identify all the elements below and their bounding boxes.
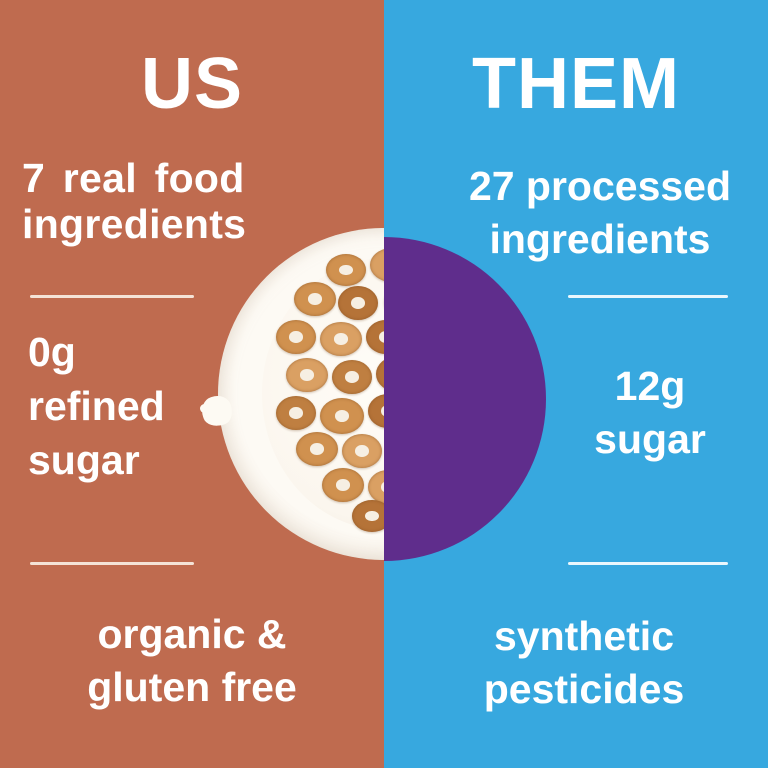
milk-droplet [200, 404, 209, 413]
right-stat-synthetic-pesticides: synthetic pesticides [400, 610, 768, 717]
comparison-infographic: US 7 real food ingredients 0g refined su… [0, 0, 768, 768]
left-divider-rule-bottom [30, 562, 194, 565]
right-stat-sugar: 12g sugar [540, 360, 760, 467]
left-heading-us: US [141, 48, 243, 120]
cereal-bowl-image [200, 228, 384, 568]
left-stat-organic-gluten-free: organic & gluten free [0, 608, 384, 715]
right-divider-rule-top [568, 295, 728, 298]
right-stat-ingredients: 27 processed ingredients [440, 160, 760, 267]
right-divider-rule-bottom [568, 562, 728, 565]
left-divider-rule-top [30, 295, 194, 298]
bowl-shape [218, 228, 384, 560]
right-heading-them: THEM [472, 48, 680, 120]
